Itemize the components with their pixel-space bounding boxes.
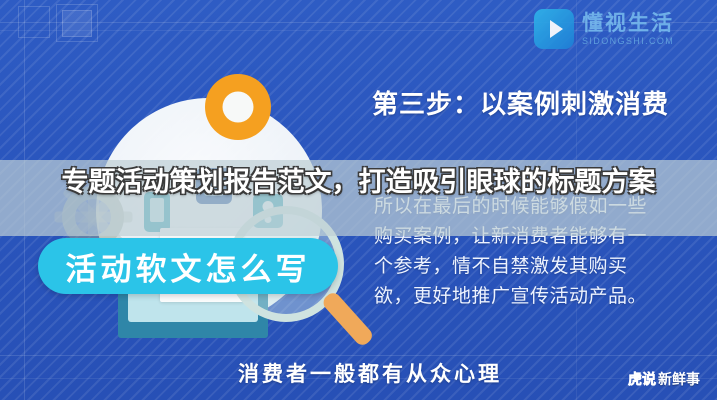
watermark: 虎说 新鲜事 [628, 366, 710, 392]
brand-logo-text: 懂视生活 SIDONGSHI.COM [582, 13, 674, 46]
map-pin-hole [223, 92, 254, 123]
map-pin-icon [205, 74, 271, 140]
brand-logo-cn: 懂视生活 [582, 13, 674, 34]
page-title: 专题活动策划报告范文，打造吸引眼球的标题方案 [0, 163, 717, 201]
screenshot-root: 活动软文怎么写 第三步：以案例刺激消费 所以在最后的时候能够假如一些购买案例，让… [0, 0, 717, 400]
play-triangle-icon [534, 9, 574, 49]
step-title: 第三步：以案例刺激消费 [372, 84, 669, 121]
brand-logo-en: SIDONGSHI.COM [582, 37, 674, 46]
watermark-part-a: 虎说 [628, 369, 656, 389]
footer-caption: 消费者一般都有从众心理 [238, 358, 502, 388]
activity-copy-pill: 活动软文怎么写 [38, 238, 338, 294]
play-triangle-glyph [550, 20, 563, 38]
brand-logo[interactable]: 懂视生活 SIDONGSHI.COM [534, 6, 710, 52]
watermark-part-b: 新鲜事 [658, 369, 700, 389]
activity-copy-pill-label: 活动软文怎么写 [66, 244, 311, 289]
